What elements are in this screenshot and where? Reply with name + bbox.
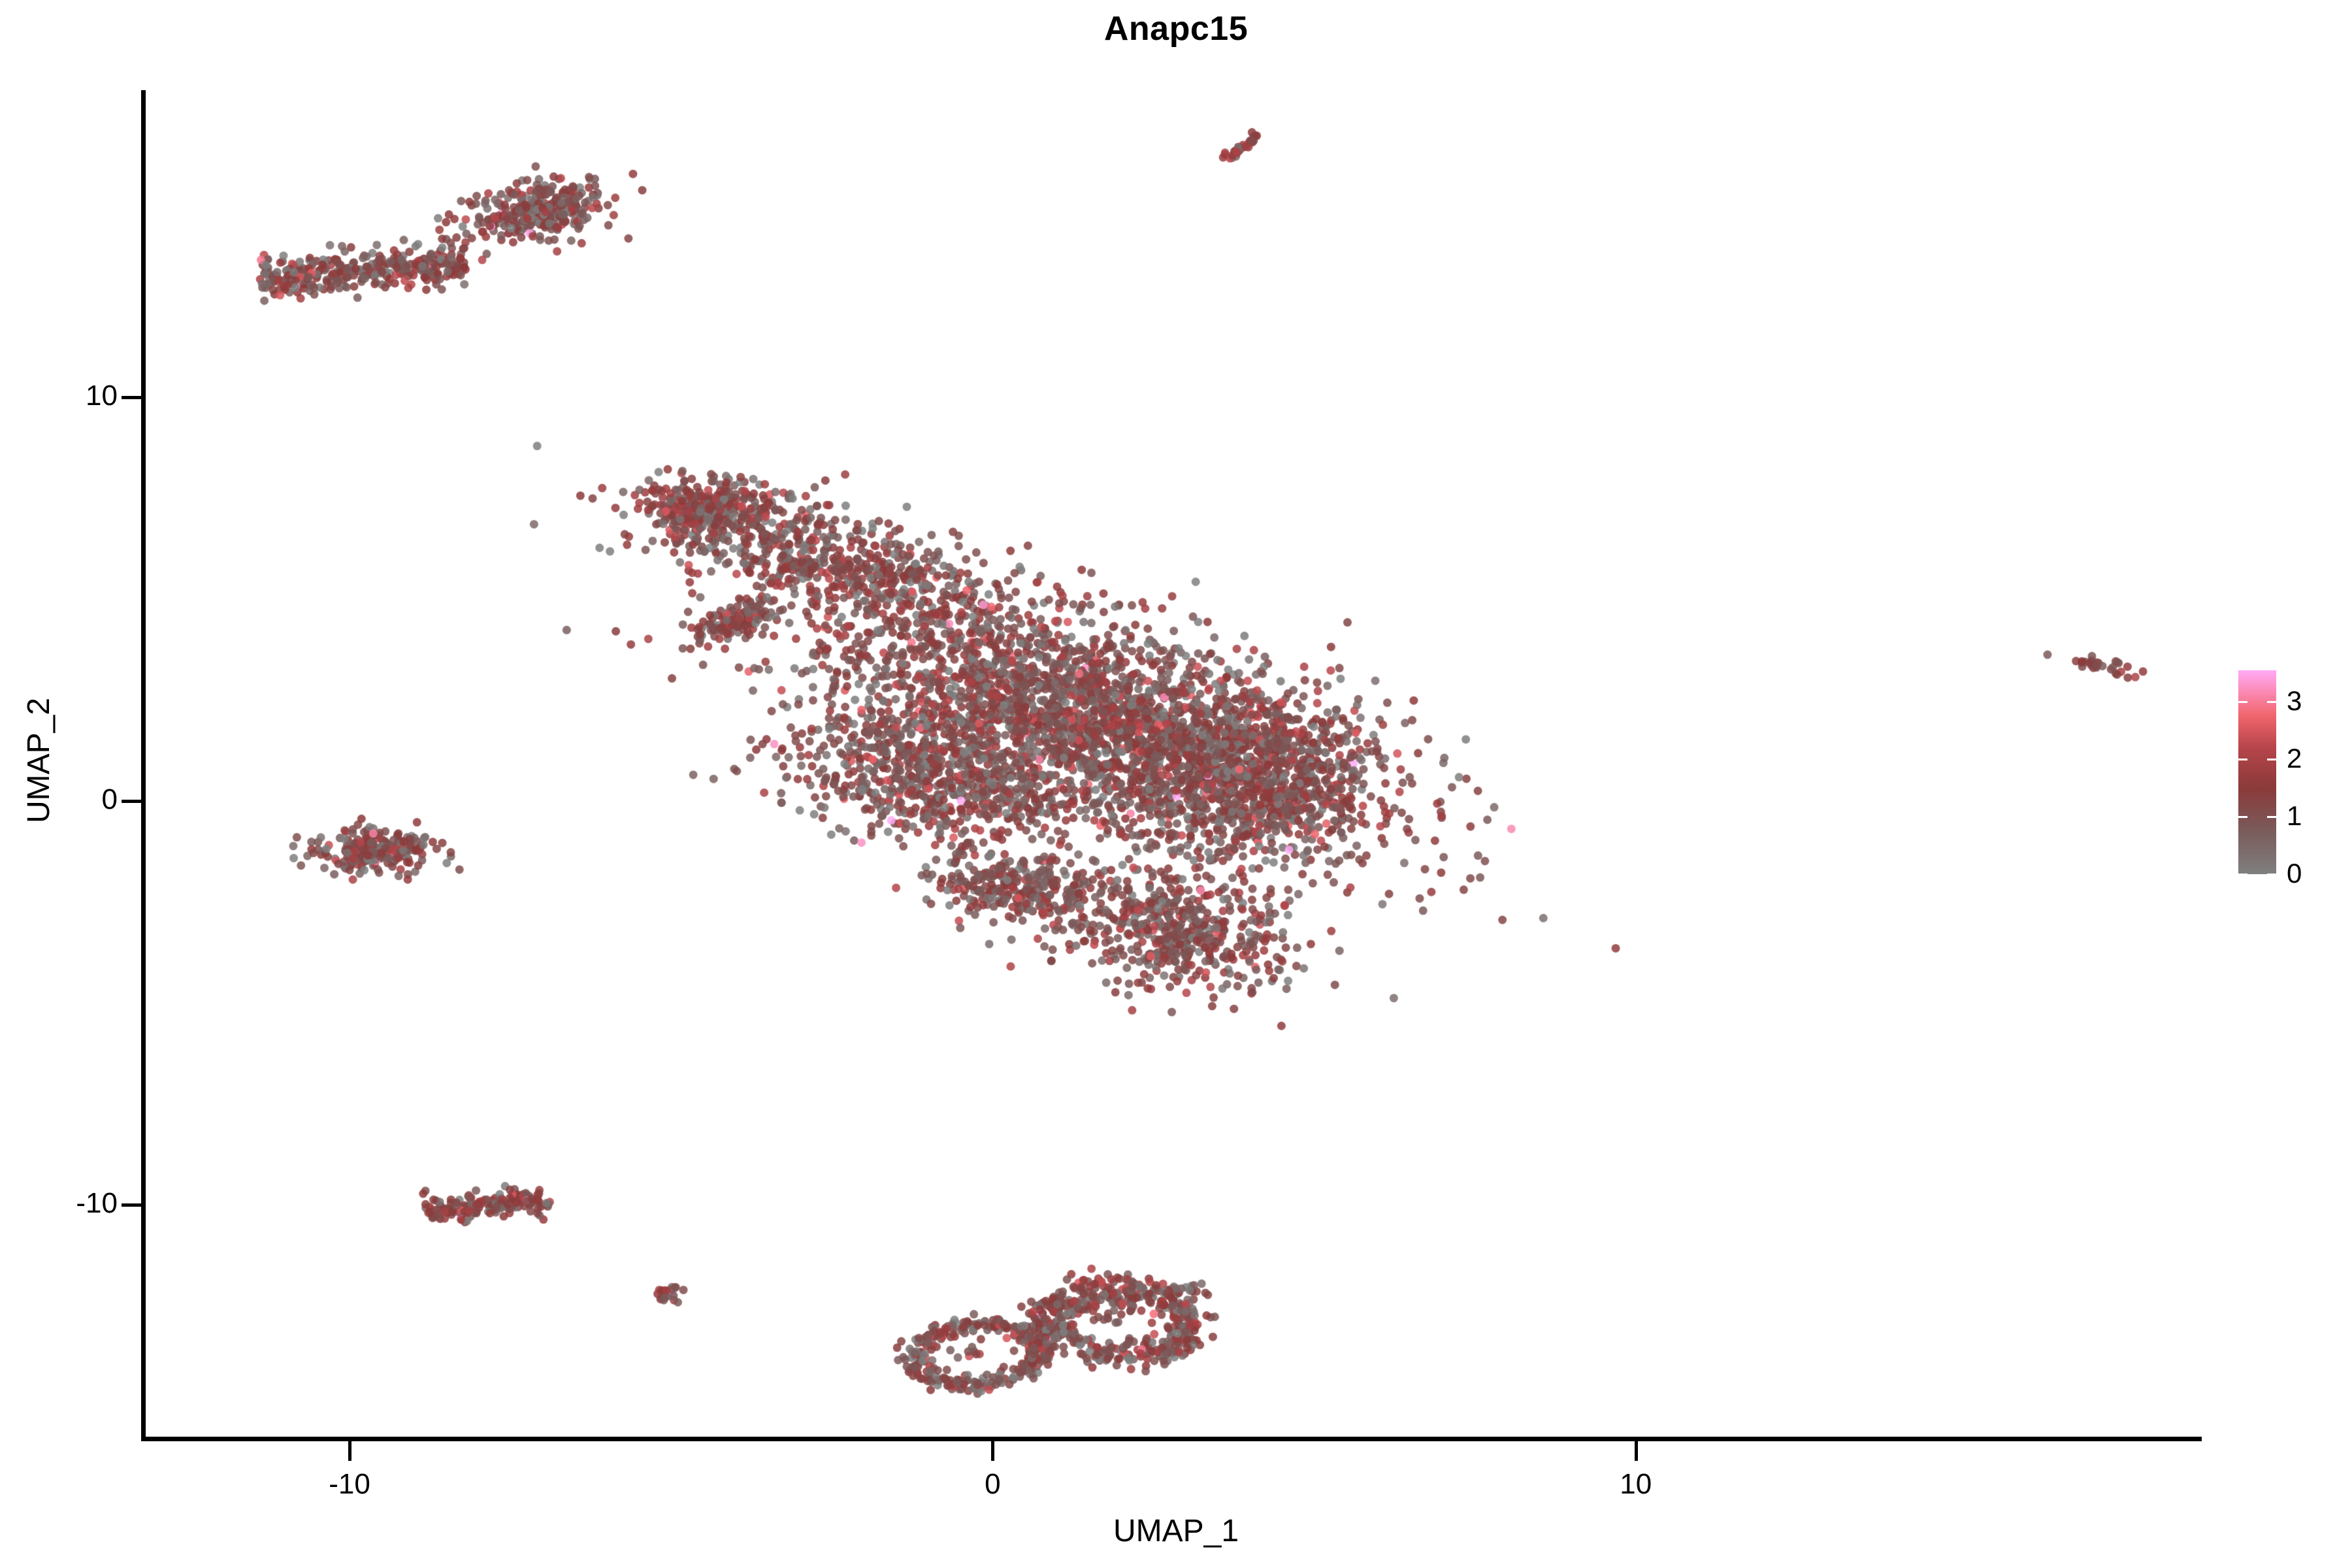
- colorbar-tick-mark: [2238, 874, 2247, 875]
- umap-feature-plot: Anapc15 100-10 -10010 UMAP_1 UMAP_2 3210: [0, 0, 2352, 1568]
- y-tick-label: 10: [0, 382, 118, 410]
- y-tick-label: -10: [0, 1189, 118, 1218]
- y-tick-mark: [122, 1203, 141, 1207]
- colorbar-tick-mark: [2267, 759, 2276, 760]
- y-axis-line: [141, 90, 146, 1441]
- x-tick-label: -10: [252, 1470, 448, 1499]
- colorbar-tick-label: 3: [2287, 687, 2332, 715]
- colorbar-legend: 3210: [2238, 670, 2343, 874]
- page-title: Anapc15: [0, 12, 2352, 46]
- scatter-plot-canvas: [144, 90, 2202, 1439]
- y-tick-mark: [122, 396, 141, 399]
- x-tick-mark: [348, 1441, 351, 1461]
- colorbar-tick-mark: [2238, 816, 2247, 818]
- colorbar-tick-label: 1: [2287, 802, 2332, 830]
- colorbar-tick-mark: [2267, 816, 2276, 818]
- x-axis-title: UMAP_1: [0, 1516, 2352, 1547]
- x-tick-label: 0: [894, 1470, 1090, 1499]
- y-axis-title: UMAP_2: [24, 499, 55, 1022]
- colorbar-tick-mark: [2267, 701, 2276, 703]
- colorbar-tick-mark: [2238, 759, 2247, 760]
- x-axis-line: [141, 1437, 2202, 1441]
- colorbar-tick-label: 2: [2287, 745, 2332, 772]
- y-tick-mark: [122, 800, 141, 803]
- colorbar-tick-mark: [2238, 701, 2247, 703]
- x-tick-label: 10: [1538, 1470, 1734, 1499]
- x-tick-mark: [991, 1441, 994, 1461]
- x-tick-mark: [1635, 1441, 1638, 1461]
- colorbar-tick-label: 0: [2287, 860, 2332, 887]
- y-tick-label: 0: [0, 785, 118, 814]
- colorbar-tick-mark: [2267, 874, 2276, 875]
